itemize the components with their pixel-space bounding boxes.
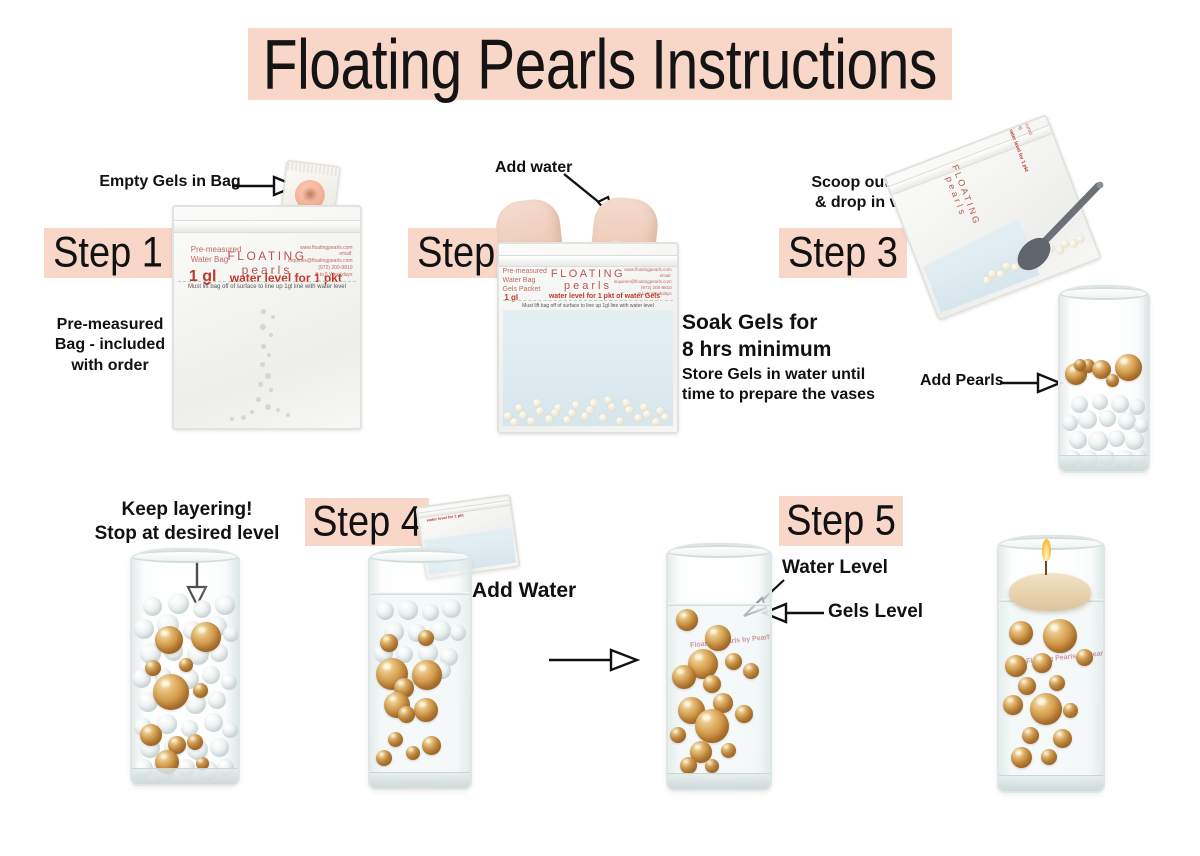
pearl xyxy=(725,653,742,670)
step-5-label: Step 5 xyxy=(786,497,896,545)
step-5-chip: Step 5 xyxy=(779,496,903,546)
instructions-infographic: Floating Pearls Instructions Step 1 Empt… xyxy=(0,0,1200,856)
step-4-label: Step 4 xyxy=(312,498,422,546)
pearl xyxy=(145,660,161,676)
vase4b-waterline xyxy=(370,592,470,595)
candle-flame xyxy=(1042,539,1051,561)
bag2-fine-print: Must lift bag off of surface to line up … xyxy=(504,303,671,309)
pearl xyxy=(398,706,415,723)
vase5-rim xyxy=(666,545,772,558)
annotation-pre-measured-bag: Pre-measured Bag - included with order xyxy=(40,315,180,376)
pearl xyxy=(1053,729,1072,748)
spoon-icon xyxy=(1012,178,1122,288)
pearl xyxy=(388,732,403,747)
pearl xyxy=(412,660,442,690)
pearl xyxy=(1018,677,1036,695)
pearl xyxy=(705,625,731,651)
annotation-add-water-step4: Add Water xyxy=(472,578,602,605)
vase4a-base xyxy=(132,768,238,784)
vase4b-rim xyxy=(368,550,472,563)
pearl xyxy=(695,709,729,743)
packet-seal xyxy=(287,161,340,176)
vase4a-rim xyxy=(130,550,240,563)
pearl xyxy=(1115,354,1142,381)
pearl xyxy=(1041,749,1057,765)
pearl xyxy=(1076,649,1093,666)
annotation-water-level: Water Level xyxy=(782,556,932,580)
vase5-base xyxy=(668,773,770,789)
vase6-base xyxy=(999,775,1103,791)
vase-photo-layering xyxy=(130,548,240,786)
pearl xyxy=(1049,675,1065,691)
page-title: Floating Pearls Instructions xyxy=(263,23,937,104)
annotation-store-gels: Store Gels in water until time to prepar… xyxy=(682,365,892,406)
bag2-dry-gels xyxy=(499,390,677,428)
pearl xyxy=(670,727,686,743)
vase-photo-step3 xyxy=(1058,285,1150,473)
water-bag-photo-step1: Pre-measured Water Bag FLOATING pearls w… xyxy=(172,205,362,430)
step-3-chip: Step 3 xyxy=(779,228,907,278)
pearl xyxy=(1106,374,1119,387)
annotation-keep-layering: Keep layering! Stop at desired level xyxy=(62,498,312,547)
pearl xyxy=(179,658,193,672)
vase4b-base xyxy=(370,772,470,788)
pearl xyxy=(406,746,420,760)
bag-speckles xyxy=(174,207,360,428)
bag3-brand: FLOATING pearls xyxy=(941,163,981,226)
floating-candle xyxy=(1009,573,1091,611)
pearl xyxy=(422,736,441,755)
bag2-fill-line xyxy=(503,300,674,301)
pearl xyxy=(1030,693,1062,725)
page-title-banner: Floating Pearls Instructions xyxy=(248,28,952,100)
step-1-chip: Step 1 xyxy=(44,228,172,278)
vase-photo-step5: Floating Pearls by Pearlfection xyxy=(666,543,772,791)
vase3-rim xyxy=(1058,287,1150,300)
pearl xyxy=(672,665,696,689)
bag4-water-level-text: water level for 1 pkt xyxy=(426,512,464,522)
step-3-label: Step 3 xyxy=(788,229,898,277)
pearl xyxy=(153,674,189,710)
vase-photo-final-with-candle: Floating Pearls by Pearlfection xyxy=(997,535,1105,793)
annotation-gels-level: Gels Level xyxy=(828,600,978,624)
vase5-waterline xyxy=(668,603,770,606)
bag2-water-level-text: water level for 1 pkt of water Gels xyxy=(549,293,660,300)
pearl xyxy=(676,609,698,631)
arrow-transition-step4-step5 xyxy=(549,648,639,672)
pearl xyxy=(721,743,736,758)
pearl xyxy=(380,634,398,652)
pearl xyxy=(1074,359,1086,371)
step-4-chip: Step 4 xyxy=(305,498,429,546)
pearl xyxy=(187,734,203,750)
pearl xyxy=(376,750,392,766)
water-bag-photo-step2: Pre-measured Water Bag Gels Packet FLOAT… xyxy=(497,242,679,434)
pearl xyxy=(703,675,721,693)
annotation-soak-gels: Soak Gels for 8 hrs minimum xyxy=(682,310,902,364)
arrow-add-pearls xyxy=(1000,372,1062,394)
vase6-rim xyxy=(997,537,1105,550)
step-1-label: Step 1 xyxy=(53,229,163,277)
vase-photo-add-water xyxy=(368,548,472,790)
pearl xyxy=(1022,727,1039,744)
pearl xyxy=(1043,619,1077,653)
pearl xyxy=(418,630,434,646)
pearl xyxy=(705,759,719,773)
pearl xyxy=(414,698,438,722)
vase3-base xyxy=(1060,455,1148,471)
